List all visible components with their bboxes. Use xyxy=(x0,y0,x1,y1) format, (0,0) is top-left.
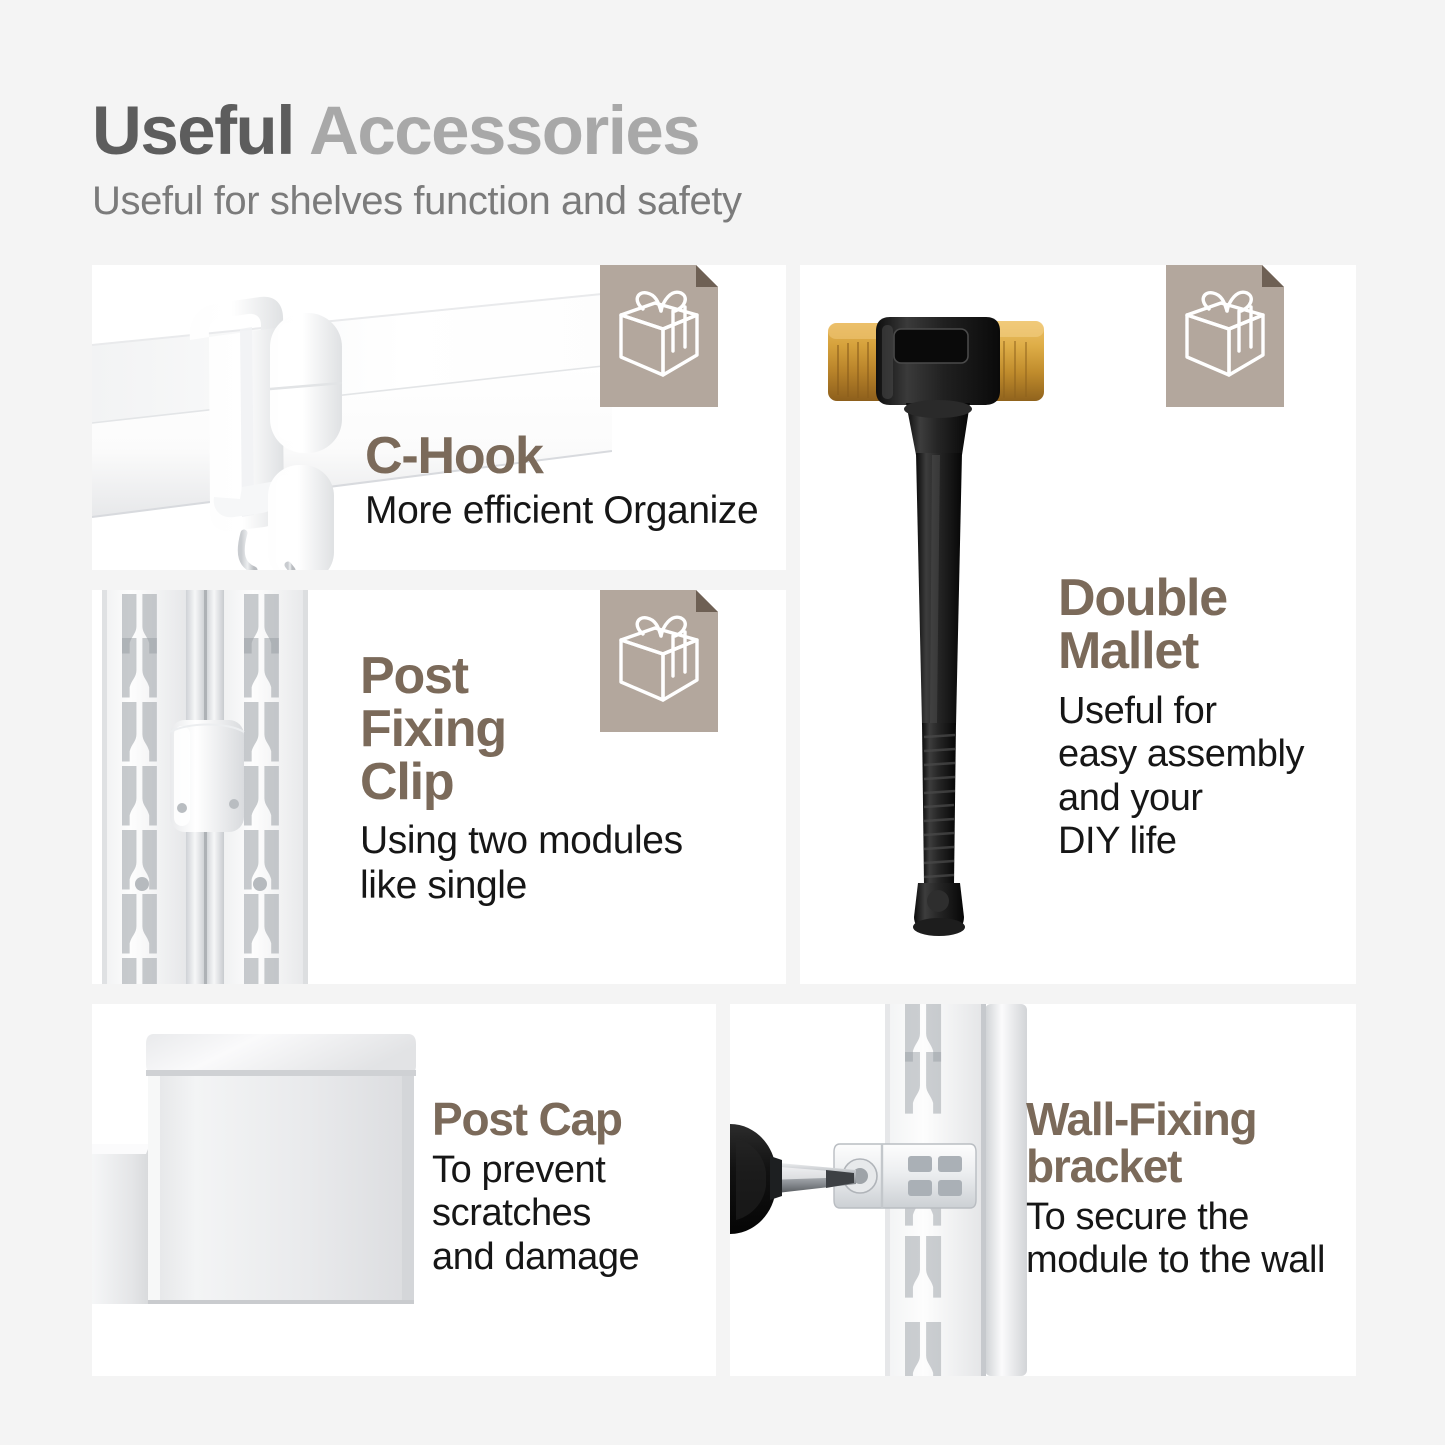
double-faced-copper-mallet-photo xyxy=(820,305,1080,945)
feature-description: Using two modules like single xyxy=(360,819,683,908)
feature-card-post-fixing-clip: Post Fixing Clip Using two modules like … xyxy=(92,590,786,984)
page-subtitle: Useful for shelves function and safety xyxy=(92,179,1362,224)
screwdriver-mounting-metal-bracket-to-post-photo xyxy=(730,1004,1060,1376)
page-title-strong: Useful xyxy=(92,92,294,169)
feature-description: To prevent scratches and damage xyxy=(432,1149,639,1279)
badge-folded-corner xyxy=(696,590,718,612)
feature-text-c-hook: C-Hook More efficient Organize xyxy=(365,430,758,533)
gift-badge xyxy=(600,265,718,407)
feature-description: More efficient Organize xyxy=(365,489,758,533)
badge-folded-corner xyxy=(696,265,718,287)
feature-card-c-hook: C-Hook More efficient Organize xyxy=(92,265,786,570)
feature-description: To secure the module to the wall xyxy=(1026,1196,1325,1283)
feature-title: Post Cap xyxy=(432,1096,639,1143)
gift-box-icon xyxy=(615,285,703,381)
gift-box-icon xyxy=(1181,285,1269,381)
feature-title: Wall-Fixing bracket xyxy=(1026,1096,1325,1190)
page-title-light: Accessories xyxy=(309,92,699,169)
feature-title: Double Mallet xyxy=(1058,572,1304,678)
feature-text-post-fixing-clip: Post Fixing Clip Using two modules like … xyxy=(360,650,683,908)
feature-description: Useful for easy assembly and your DIY li… xyxy=(1058,690,1304,863)
feature-card-wall-fixing-bracket: Wall-Fixing bracket To secure the module… xyxy=(730,1004,1356,1376)
two-slotted-posts-joined-by-clip-photo xyxy=(92,590,322,984)
badge-folded-corner xyxy=(1262,265,1284,287)
feature-text-wall-fixing-bracket: Wall-Fixing bracket To secure the module… xyxy=(1026,1096,1325,1282)
white-square-post-cap-photo xyxy=(92,1004,442,1376)
gift-badge xyxy=(1166,265,1284,407)
feature-title: C-Hook xyxy=(365,430,758,483)
feature-title: Post Fixing Clip xyxy=(360,650,683,809)
feature-card-double-mallet: Double Mallet Useful for easy assembly a… xyxy=(800,265,1356,984)
page-title: Useful Accessories xyxy=(92,96,1362,165)
feature-text-post-cap: Post Cap To prevent scratches and damage xyxy=(432,1096,639,1279)
feature-card-post-cap: Post Cap To prevent scratches and damage xyxy=(92,1004,716,1376)
page-header: Useful Accessories Useful for shelves fu… xyxy=(92,96,1362,224)
feature-text-double-mallet: Double Mallet Useful for easy assembly a… xyxy=(1058,572,1304,863)
